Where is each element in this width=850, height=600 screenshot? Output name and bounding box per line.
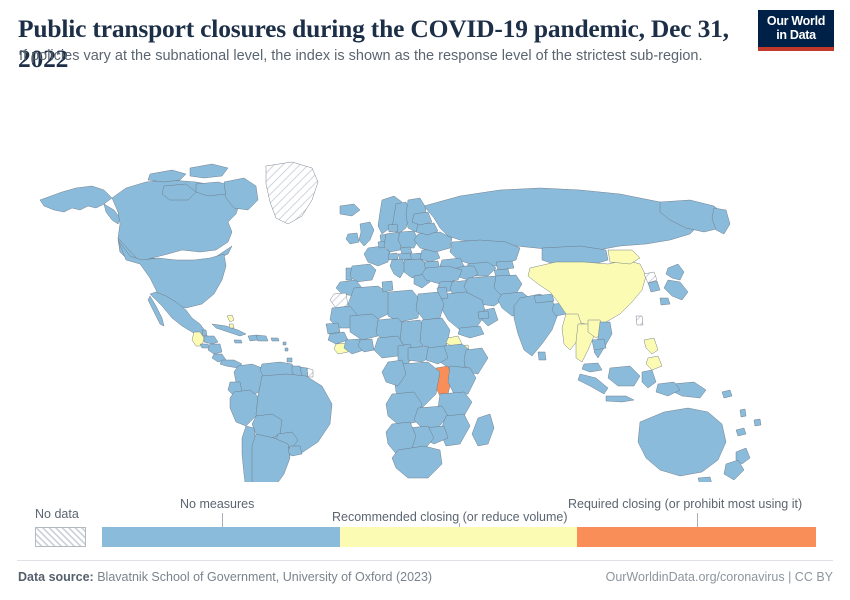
legend-segment-recommended-closing[interactable] xyxy=(340,527,577,547)
footer-divider xyxy=(17,560,833,561)
data-source-prefix: Data source: xyxy=(18,570,94,584)
country-jamaica[interactable] xyxy=(234,340,242,343)
country-japan-honshu[interactable] xyxy=(664,280,688,300)
country-egypt[interactable] xyxy=(416,292,444,320)
legend-tick-required-closing xyxy=(697,513,698,527)
country-yemen[interactable] xyxy=(458,326,484,338)
country-south-africa[interactable] xyxy=(392,446,442,478)
page-title: Public transport closures during the COV… xyxy=(18,14,758,74)
country-madagascar[interactable] xyxy=(472,414,494,446)
country-bahamas-2[interactable] xyxy=(229,324,234,328)
country-guinea[interactable] xyxy=(328,332,348,344)
country-libya[interactable] xyxy=(388,290,420,322)
country-fiji[interactable] xyxy=(754,419,761,426)
legend-label-no-measures: No measures xyxy=(180,497,254,511)
country-western-sahara[interactable] xyxy=(330,293,348,308)
country-senegal[interactable] xyxy=(326,323,340,334)
country-bahamas[interactable] xyxy=(227,315,234,322)
legend-segment-no-measures[interactable] xyxy=(102,527,340,547)
country-honduras[interactable] xyxy=(204,336,218,344)
world-map[interactable] xyxy=(0,82,850,482)
map-legend: No data No measures Recommended closing … xyxy=(0,492,850,560)
country-ireland[interactable] xyxy=(346,233,359,244)
country-united-kingdom[interactable] xyxy=(359,222,374,246)
country-japan-kyushu[interactable] xyxy=(660,298,670,305)
country-lesser-antilles-1[interactable] xyxy=(283,342,286,345)
country-switzerland[interactable] xyxy=(388,253,398,260)
country-sulawesi[interactable] xyxy=(642,370,656,388)
country-tasmania[interactable] xyxy=(698,477,712,482)
legend-label-recommended-closing: Recommended closing (or reduce volume) xyxy=(332,510,568,524)
data-source-text: Blavatnik School of Government, Universi… xyxy=(97,570,432,584)
country-japan[interactable] xyxy=(666,264,684,280)
country-south-korea[interactable] xyxy=(648,281,660,292)
country-alaska[interactable] xyxy=(40,186,112,212)
owid-logo[interactable]: Our World in Data xyxy=(758,10,834,50)
country-baltic-states[interactable] xyxy=(412,212,432,225)
country-dominican-republic[interactable] xyxy=(256,335,268,341)
country-taiwan[interactable] xyxy=(636,316,643,325)
country-philippines[interactable] xyxy=(644,338,658,354)
country-tunisia[interactable] xyxy=(382,281,393,292)
country-nicaragua[interactable] xyxy=(208,344,222,354)
country-el-salvador[interactable] xyxy=(200,344,210,348)
chart-footer: Data source: Blavatnik School of Governm… xyxy=(0,560,850,600)
data-source: Data source: Blavatnik School of Governm… xyxy=(18,570,432,584)
country-denmark[interactable] xyxy=(388,224,398,232)
country-greenland[interactable] xyxy=(266,162,318,224)
country-solomon-islands[interactable] xyxy=(722,390,732,398)
country-canada-arctic-2[interactable] xyxy=(190,164,228,178)
country-ukraine[interactable] xyxy=(414,232,452,252)
owid-url[interactable]: OurWorldinData.org/coronavirus | CC BY xyxy=(606,570,833,584)
owid-logo-line-1: Our World xyxy=(758,14,834,28)
owid-logo-underline xyxy=(758,47,834,51)
country-trinidad[interactable] xyxy=(287,358,292,362)
owid-logo-line-2: in Data xyxy=(758,28,834,42)
country-vanuatu[interactable] xyxy=(740,409,746,417)
country-russia-kamchatka[interactable] xyxy=(712,208,730,234)
chart-header: Public transport closures during the COV… xyxy=(0,0,850,78)
country-uae[interactable] xyxy=(478,311,489,319)
country-puerto-rico[interactable] xyxy=(271,338,279,341)
legend-segment-required-closing[interactable] xyxy=(577,527,816,547)
country-cuba[interactable] xyxy=(212,324,246,336)
country-india[interactable] xyxy=(514,294,558,356)
legend-tick-no-measures xyxy=(222,513,223,527)
country-australia[interactable] xyxy=(638,408,726,476)
legend-no-data-label: No data xyxy=(35,507,79,521)
country-lesser-antilles-2[interactable] xyxy=(285,348,288,351)
country-sumatra[interactable] xyxy=(578,374,608,394)
country-java[interactable] xyxy=(606,396,634,402)
page-subtitle: If policies vary at the subnational leve… xyxy=(19,47,759,65)
legend-no-data-swatch[interactable] xyxy=(35,527,86,547)
country-borneo[interactable] xyxy=(608,366,640,386)
country-kyrgyzstan[interactable] xyxy=(496,261,514,270)
country-canada-arctic-1[interactable] xyxy=(148,170,186,182)
country-mongolia-inner[interactable] xyxy=(608,250,640,264)
country-iceland[interactable] xyxy=(340,204,360,216)
country-sri-lanka[interactable] xyxy=(538,352,546,360)
country-new-caledonia[interactable] xyxy=(736,428,746,436)
legend-label-required-closing: Required closing (or prohibit most using… xyxy=(568,497,802,511)
country-france[interactable] xyxy=(364,246,390,266)
country-cambodia[interactable] xyxy=(592,339,606,350)
country-spain[interactable] xyxy=(350,264,376,282)
country-belize[interactable] xyxy=(202,330,207,336)
country-italy[interactable] xyxy=(390,259,406,278)
country-french-guiana[interactable] xyxy=(307,368,313,377)
country-philippines-2[interactable] xyxy=(646,356,662,370)
country-malaysia[interactable] xyxy=(582,363,602,372)
